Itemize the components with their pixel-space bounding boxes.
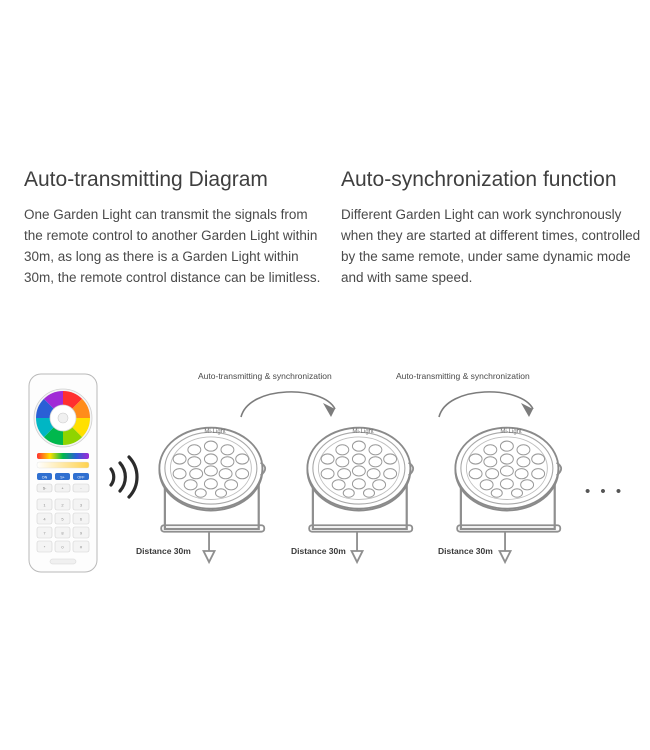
right-paragraph: Different Garden Light can work synchron… xyxy=(341,204,641,288)
section-auto-synchronization: Auto-synchronization function Different … xyxy=(341,168,641,288)
lamp-brand-2: Mi·Light xyxy=(352,429,374,435)
left-heading: Auto-transmitting Diagram xyxy=(24,168,324,192)
garden-light-3 xyxy=(455,428,561,562)
distance-label-2: Distance 30m xyxy=(291,546,346,556)
section-auto-transmitting: Auto-transmitting Diagram One Garden Lig… xyxy=(24,168,324,288)
distance-label-3: Distance 30m xyxy=(438,546,493,556)
diagram-content: Auto-transmitting Diagram One Garden Lig… xyxy=(0,0,650,750)
lamp-brand-1: Mi·Light xyxy=(204,429,226,435)
arrow-label-2: Auto-transmitting & synchronization xyxy=(396,371,530,381)
right-heading: Auto-synchronization function xyxy=(341,168,641,192)
left-paragraph: One Garden Light can transmit the signal… xyxy=(24,204,324,288)
transmit-arrow-2 xyxy=(439,392,533,417)
garden-light-1 xyxy=(159,428,265,562)
transmit-arrow-1 xyxy=(241,392,335,417)
continuation-dots: • • • xyxy=(585,483,624,500)
lamp-brand-3: Mi·Light xyxy=(500,429,522,435)
lighting-diagram: ON S+ OFF S- + - xyxy=(0,355,650,605)
arrow-label-1: Auto-transmitting & synchronization xyxy=(198,371,332,381)
garden-light-2 xyxy=(307,428,413,562)
distance-label-1: Distance 30m xyxy=(136,546,191,556)
page-root: Auto-transmitting Diagram One Garden Lig… xyxy=(0,0,650,750)
